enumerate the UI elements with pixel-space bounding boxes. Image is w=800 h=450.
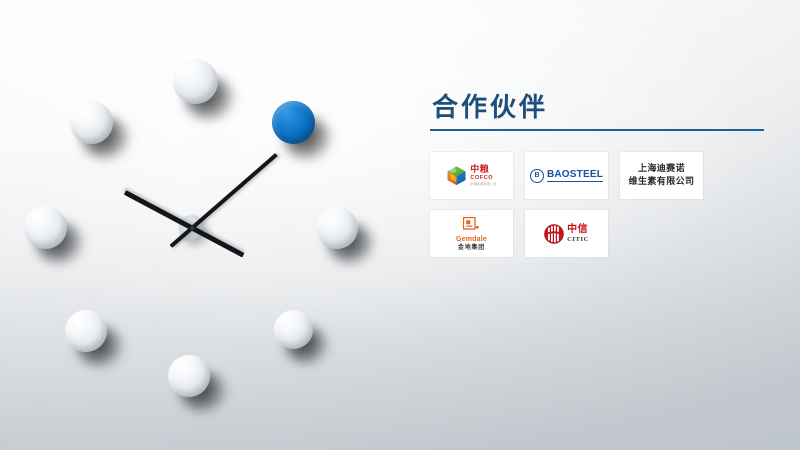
- clock-marker-8: [24, 206, 67, 249]
- marker-ball: [70, 101, 113, 144]
- cofco-wordmark: 中粮 COFCO 中粮集团有限公司: [470, 166, 496, 187]
- cofco-en-text: COFCO: [470, 176, 496, 182]
- baosteel-wordmark: BAOSTEEL: [547, 169, 603, 182]
- clock-marker-2: [316, 207, 358, 249]
- desano-wordmark: 上海迪赛诺 维生素有限公司: [629, 163, 695, 189]
- desano-line-1: 上海迪赛诺: [629, 163, 695, 176]
- clock-marker-12: [173, 59, 218, 104]
- marker-ball: [316, 207, 358, 249]
- partner-card-gemdale[interactable]: Gemdale 金地集团: [430, 210, 513, 257]
- clock-marker-10: [70, 101, 113, 144]
- gemdale-logo: Gemdale 金地集团: [456, 217, 487, 251]
- gemdale-en-text: Gemdale: [456, 236, 487, 243]
- clock-marker-4: [274, 310, 313, 349]
- citic-logo: 中信 CITIC: [544, 224, 589, 244]
- marker-ball: [168, 355, 210, 397]
- baosteel-circle-icon: B: [530, 169, 544, 183]
- gemdale-square-icon: [463, 217, 479, 233]
- cofco-subtitle: 中粮集团有限公司: [470, 183, 496, 186]
- partner-card-baosteel[interactable]: B BAOSTEEL: [525, 152, 608, 199]
- citic-emblem-icon: [544, 224, 564, 244]
- marker-ball: [24, 206, 67, 249]
- slide-canvas: 合作伙伴: [0, 0, 800, 450]
- citic-cn-text: 中信: [567, 225, 589, 235]
- clock-marker-5: [168, 355, 210, 397]
- partner-card-cofco[interactable]: 中粮 COFCO 中粮集团有限公司: [430, 152, 513, 199]
- cofco-cn-text: 中粮: [470, 166, 496, 175]
- citic-en-text: CITIC: [567, 237, 589, 244]
- cofco-logo: 中粮 COFCO 中粮集团有限公司: [446, 165, 496, 186]
- clock-hub-pin: [190, 226, 195, 231]
- cofco-cube-icon: [446, 165, 467, 186]
- partner-logo-grid: 中粮 COFCO 中粮集团有限公司 B BAOSTEEL 上海迪赛诺 维生素有限…: [430, 152, 772, 257]
- desano-line-2: 维生素有限公司: [629, 176, 695, 189]
- title-underline: [430, 129, 764, 131]
- clock-marker-7: [65, 310, 107, 352]
- page-title: 合作伙伴: [430, 95, 770, 122]
- partner-card-shanghai-desano[interactable]: 上海迪赛诺 维生素有限公司: [620, 152, 703, 199]
- wall-clock-image: [0, 0, 400, 450]
- marker-ball: [65, 310, 107, 352]
- marker-ball: [274, 310, 313, 349]
- clock-marker-1: [272, 101, 315, 144]
- partner-card-citic[interactable]: 中信 CITIC: [525, 210, 608, 257]
- citic-wordmark: 中信 CITIC: [567, 225, 589, 244]
- marker-ball: [272, 101, 315, 144]
- clock-minute-hand: [170, 153, 278, 248]
- gemdale-cn-text: 金地集团: [456, 245, 487, 251]
- baosteel-logo: B BAOSTEEL: [530, 169, 603, 183]
- marker-ball: [173, 59, 218, 104]
- partners-panel: 合作伙伴: [430, 95, 770, 257]
